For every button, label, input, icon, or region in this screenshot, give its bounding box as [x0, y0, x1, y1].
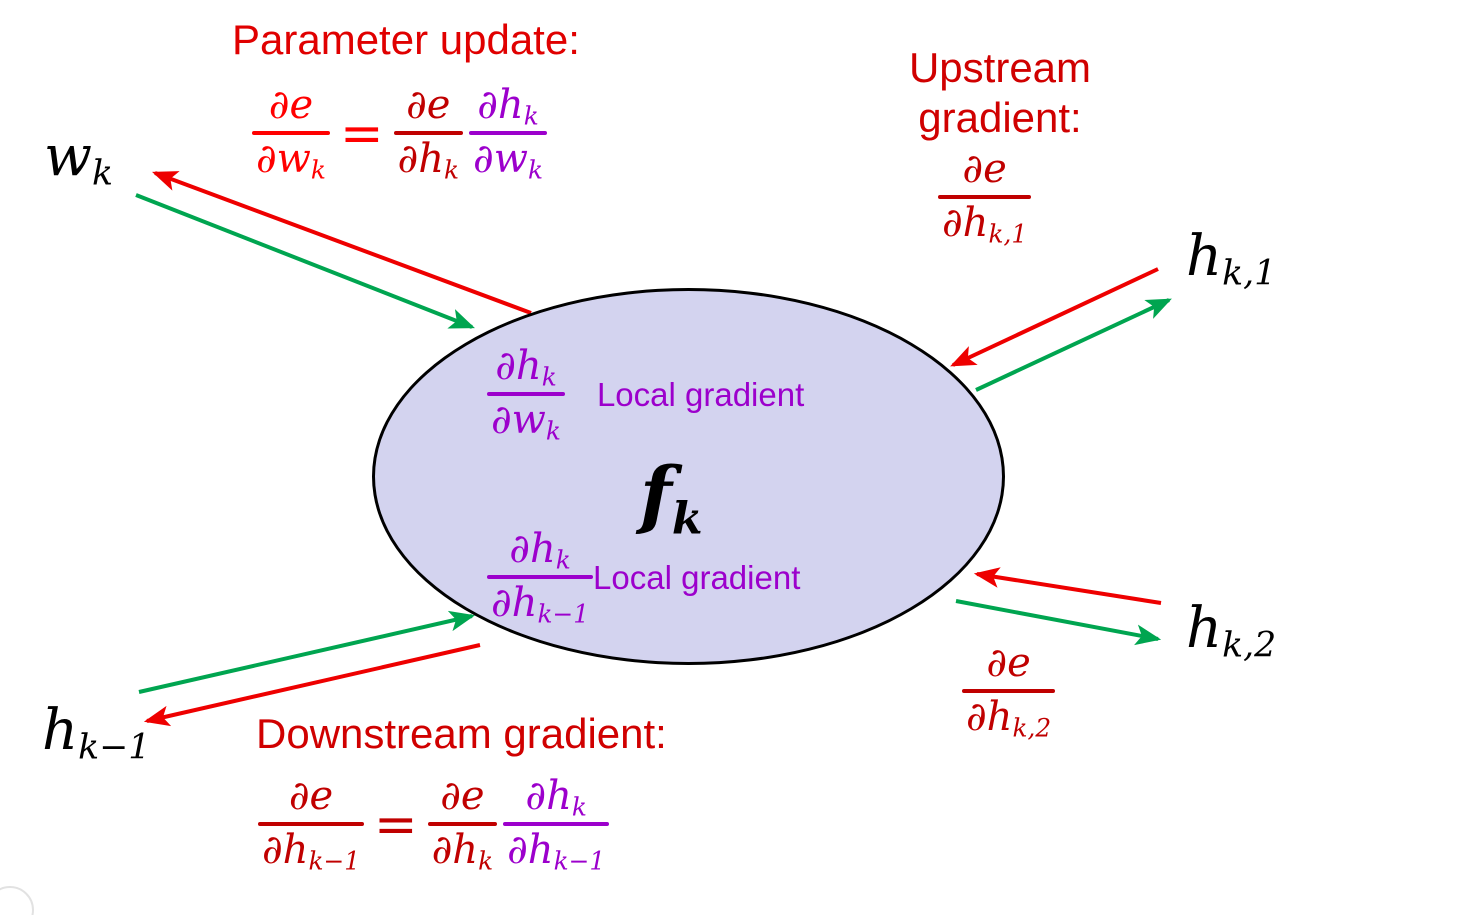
denominator: ∂hk,2: [962, 694, 1055, 741]
denominator: ∂hk,1: [938, 200, 1031, 247]
numerator: ∂hk: [503, 775, 609, 821]
output2-variable-label: hk,2: [1186, 600, 1276, 664]
numerator: ∂hk: [469, 84, 547, 130]
denominator: ∂hk−1: [258, 827, 364, 874]
local-gradient-bottom-denominator: ∂hk−1: [487, 580, 593, 627]
backward-output2-in-arrow: [977, 574, 1161, 603]
local-gradient-top-numerator: ∂hk: [487, 345, 565, 391]
downstream-gradient-equation: ∂e ∂hk−1 = ∂e ∂hk ∂hk ∂hk−1: [258, 775, 609, 875]
downstream-gradient-lhs: ∂e ∂hk−1: [258, 775, 364, 875]
forward-output1-out-arrow: [976, 300, 1169, 390]
numerator: ∂e: [938, 148, 1031, 194]
parameter-update-caption: Parameter update:: [232, 18, 580, 62]
denominator: ∂hk−1: [503, 827, 609, 874]
downstream-gradient-caption: Downstream gradient:: [256, 712, 667, 756]
numerator: ∂e: [428, 775, 497, 821]
fraction-bar: [487, 575, 593, 579]
fraction-bar: [394, 131, 463, 135]
fraction-bar: [938, 195, 1031, 199]
input-variable-label: hk−1: [42, 702, 150, 766]
fraction-bar: [428, 822, 497, 826]
fraction-bar: [487, 392, 565, 396]
local-gradient-top-fraction: ∂hk ∂wk: [487, 345, 565, 445]
equals-sign: =: [340, 108, 384, 160]
fraction-bar: [962, 689, 1055, 693]
fraction-bar: [469, 131, 547, 135]
parameter-update-rhs-1: ∂e ∂hk: [394, 84, 463, 184]
denominator: ∂hk: [428, 827, 497, 874]
upstream-gradient-caption-line2: gradient:: [890, 96, 1110, 140]
upstream-gradient-caption-line1: Upstream: [890, 46, 1110, 90]
numerator: ∂e: [258, 775, 364, 821]
output1-variable-label: hk,1: [1186, 228, 1276, 292]
diagram-canvas: ∂hk ∂wk Local gradient fk ∂hk ∂hk−1 Loca…: [0, 0, 1465, 915]
fraction-bar: [252, 131, 330, 135]
upstream-gradient-fraction-2: ∂e ∂hk,2: [962, 642, 1055, 742]
fraction: ∂e ∂hk,1: [938, 148, 1031, 248]
numerator: ∂e: [394, 84, 463, 130]
fraction-bar: [258, 822, 364, 826]
parameter-update-rhs-2: ∂hk ∂wk: [469, 84, 547, 184]
backward-weight-out-arrow: [155, 173, 531, 313]
local-gradient-bottom-numerator: ∂hk: [487, 528, 593, 574]
denominator: ∂wk: [469, 136, 547, 183]
downstream-gradient-rhs-2: ∂hk ∂hk−1: [503, 775, 609, 875]
local-gradient-top-denominator: ∂wk: [487, 397, 565, 444]
local-gradient-top: ∂hk ∂wk Local gradient: [487, 345, 804, 445]
local-gradient-bottom: ∂hk ∂hk−1 Local gradient: [487, 528, 800, 628]
weight-variable-label: wk: [44, 128, 113, 192]
forward-output2-out-arrow: [956, 601, 1158, 639]
denominator: ∂hk: [394, 136, 463, 183]
local-gradient-top-caption: Local gradient: [597, 378, 804, 413]
upstream-gradient-fraction-1: ∂e ∂hk,1: [938, 148, 1031, 248]
parameter-update-lhs: ∂e ∂wk: [252, 84, 330, 184]
numerator: ∂e: [252, 84, 330, 130]
numerator: ∂e: [962, 642, 1055, 688]
equals-sign: =: [374, 799, 418, 851]
backward-output1-in-arrow: [953, 269, 1158, 365]
fraction: ∂e ∂hk,2: [962, 642, 1055, 742]
local-gradient-bottom-fraction: ∂hk ∂hk−1: [487, 528, 593, 628]
local-gradient-bottom-caption: Local gradient: [593, 561, 800, 596]
denominator: ∂wk: [252, 136, 330, 183]
parameter-update-equation: ∂e ∂wk = ∂e ∂hk ∂hk ∂wk: [252, 84, 547, 184]
forward-weight-in-arrow: [136, 195, 472, 327]
downstream-gradient-rhs-1: ∂e ∂hk: [428, 775, 497, 875]
fraction-bar: [503, 822, 609, 826]
forward-input-in-arrow: [139, 616, 472, 692]
